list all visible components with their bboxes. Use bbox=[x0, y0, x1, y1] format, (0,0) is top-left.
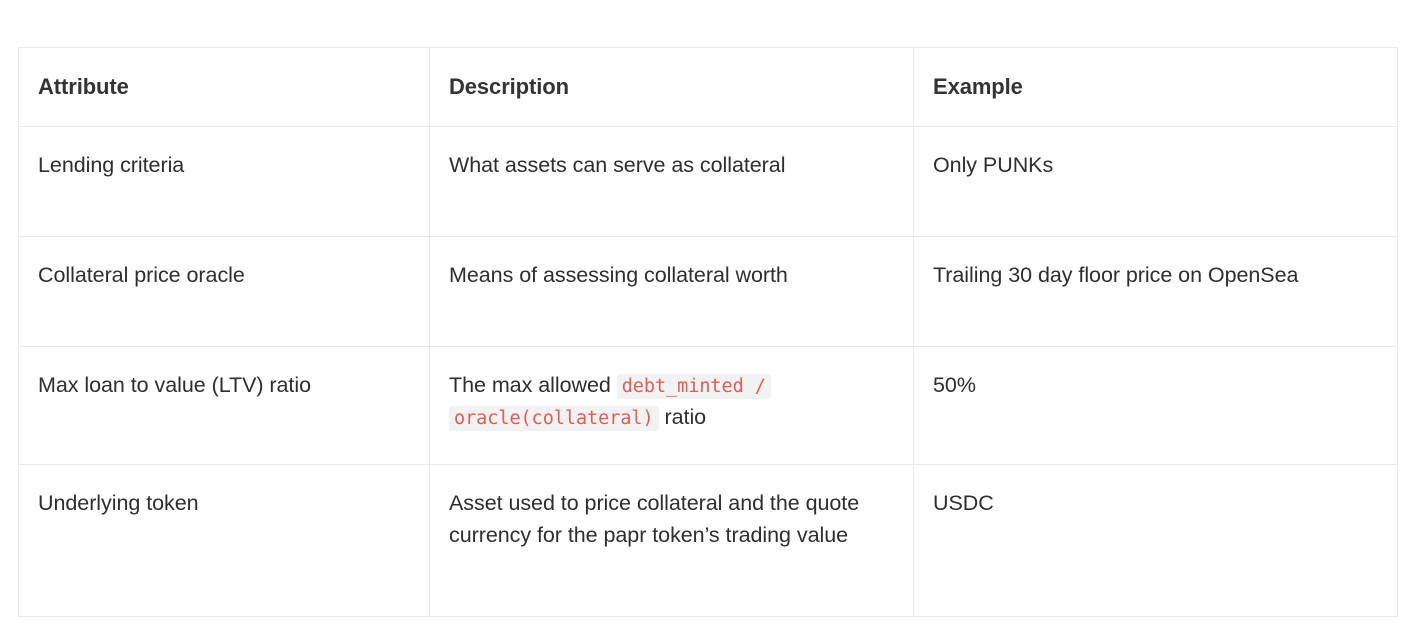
cell-description-rich: The max allowed debt_minted / oracle(col… bbox=[430, 347, 913, 464]
table-header-row: Attribute Description Example bbox=[19, 48, 1398, 127]
cell-description-text: Means of assessing collateral worth bbox=[430, 237, 913, 321]
column-header-attribute: Attribute bbox=[19, 48, 430, 127]
table-row: Max loan to value (LTV) ratio The max al… bbox=[19, 346, 1398, 464]
cell-attribute: Max loan to value (LTV) ratio bbox=[19, 346, 430, 464]
cell-attribute-text: Max loan to value (LTV) ratio bbox=[19, 347, 429, 431]
cell-example-text: Only PUNKs bbox=[914, 127, 1397, 211]
column-header-description: Description bbox=[430, 48, 914, 127]
cell-example-text: Trailing 30 day floor price on OpenSea bbox=[914, 237, 1397, 321]
cell-example-text: 50% bbox=[914, 347, 1397, 431]
attribute-table-container: Attribute Description Example Lending cr… bbox=[18, 47, 1397, 617]
cell-description-text: Asset used to price collateral and the q… bbox=[430, 465, 913, 582]
cell-example-text: USDC bbox=[914, 465, 1397, 549]
inline-code-oracle-collateral: oracle(collateral) bbox=[449, 406, 659, 431]
description-lead-text: The max allowed bbox=[449, 373, 617, 397]
table-row: Underlying token Asset used to price col… bbox=[19, 465, 1398, 617]
column-header-example: Example bbox=[914, 48, 1398, 127]
page-root: Attribute Description Example Lending cr… bbox=[0, 0, 1412, 622]
cell-example: USDC bbox=[914, 465, 1398, 617]
table-body: Lending criteria What assets can serve a… bbox=[19, 126, 1398, 616]
cell-attribute-text: Lending criteria bbox=[19, 127, 429, 211]
table-row: Collateral price oracle Means of assessi… bbox=[19, 236, 1398, 346]
cell-description: Means of assessing collateral worth bbox=[430, 236, 914, 346]
column-header-attribute-label: Attribute bbox=[19, 48, 429, 126]
cell-description: Asset used to price collateral and the q… bbox=[430, 465, 914, 617]
cell-attribute-text: Underlying token bbox=[19, 465, 429, 549]
cell-description: What assets can serve as collateral bbox=[430, 126, 914, 236]
table-row: Lending criteria What assets can serve a… bbox=[19, 126, 1398, 236]
inline-code-debt-minted: debt_minted / bbox=[617, 374, 771, 399]
cell-example: 50% bbox=[914, 346, 1398, 464]
table-header: Attribute Description Example bbox=[19, 48, 1398, 127]
attribute-table: Attribute Description Example Lending cr… bbox=[18, 47, 1398, 617]
column-header-description-label: Description bbox=[430, 48, 913, 126]
cell-example: Only PUNKs bbox=[914, 126, 1398, 236]
cell-example: Trailing 30 day floor price on OpenSea bbox=[914, 236, 1398, 346]
column-header-example-label: Example bbox=[914, 48, 1397, 126]
cell-description: The max allowed debt_minted / oracle(col… bbox=[430, 346, 914, 464]
cell-attribute: Collateral price oracle bbox=[19, 236, 430, 346]
description-tail-text: ratio bbox=[659, 405, 707, 429]
cell-description-text: What assets can serve as collateral bbox=[430, 127, 913, 211]
cell-attribute-text: Collateral price oracle bbox=[19, 237, 429, 321]
cell-attribute: Underlying token bbox=[19, 465, 430, 617]
cell-attribute: Lending criteria bbox=[19, 126, 430, 236]
